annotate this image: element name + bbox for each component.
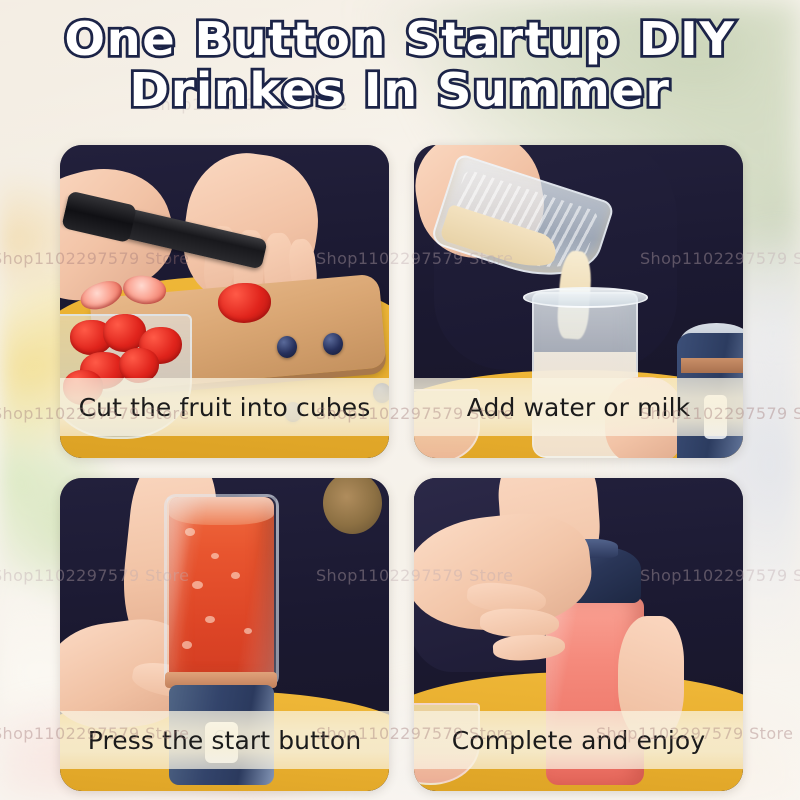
caption-text: Add water or milk [467,393,690,422]
step-panel-4[interactable]: Complete and enjoy [414,478,743,791]
caption-text: Cut the fruit into cubes [79,393,371,422]
caption-text: Complete and enjoy [452,726,705,755]
step-grid: Cut the fruit into cubes [60,145,743,791]
step-1-caption: Cut the fruit into cubes [60,378,389,436]
step-panel-1[interactable]: Cut the fruit into cubes [60,145,389,458]
copper-ring [681,358,744,374]
step-2-caption: Add water or milk [414,378,743,436]
caption-text: Press the start button [88,726,362,755]
infographic-page: One Button Startup DIY Drinkes In Summer [0,0,800,800]
blueberry [277,336,297,358]
blender-cup-wall [164,494,279,688]
blueberry [323,333,343,355]
step-panel-2[interactable]: Add water or milk [414,145,743,458]
step-panel-3[interactable]: Press the start button [60,478,389,791]
jar-rim [523,287,648,307]
step-3-caption: Press the start button [60,711,389,769]
step-4-caption: Complete and enjoy [414,711,743,769]
